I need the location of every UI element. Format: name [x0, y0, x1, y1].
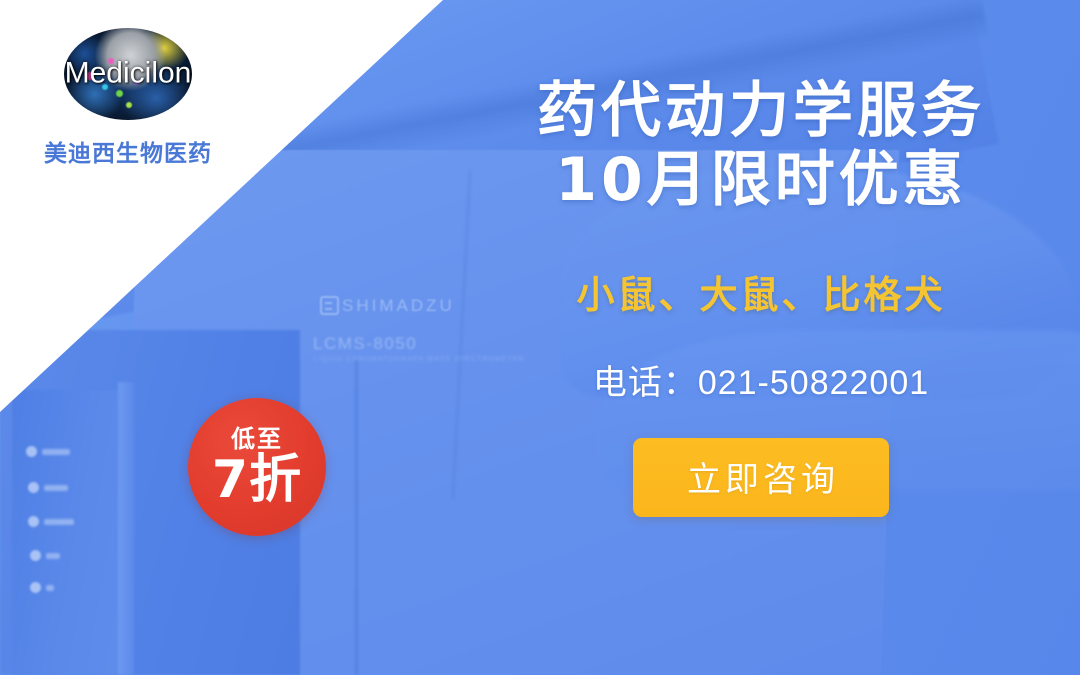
instrument-column-edge — [118, 382, 134, 675]
consult-now-button[interactable]: 立即咨询 — [633, 438, 889, 517]
phone-label: 电话： — [593, 363, 698, 403]
status-led-label-5 — [46, 585, 54, 591]
contact-phone-line: 电话：021-50822001 — [472, 355, 1050, 404]
marketing-copy: 药代动力学服务 10月限时优惠 小鼠、大鼠、比格犬 电话：021-5082200… — [472, 78, 1050, 517]
medicilon-logo-icon: Medicilon — [64, 28, 192, 120]
status-led-label-1 — [42, 449, 70, 455]
phone-number[interactable]: 021-50822001 — [698, 364, 929, 402]
logo-wordmark: Medicilon — [64, 56, 192, 90]
instrument-model-text: LCMS-8050 — [313, 334, 417, 354]
promotional-banner: SHIMADZU LCMS-8050 LIQUID CHROMATOGRAPH … — [0, 0, 1080, 675]
shimadzu-logo-icon — [320, 296, 339, 315]
instrument-panel-seam-left — [355, 360, 358, 675]
status-led-5 — [30, 582, 41, 593]
cta-container: 立即咨询 — [472, 438, 1050, 517]
discount-badge-value: 7折 — [212, 453, 302, 508]
brand-block: Medicilon 美迪西生物医药 — [40, 28, 216, 168]
status-led-4 — [30, 550, 41, 561]
status-led-3 — [28, 516, 39, 527]
molecule-dot-lime — [126, 102, 132, 108]
headline-line-2: 10月限时优惠 — [472, 147, 1050, 214]
status-led-label-4 — [46, 553, 60, 559]
instrument-control-column — [12, 390, 130, 675]
headline-line-1: 药代动力学服务 — [472, 78, 1050, 145]
status-led-1 — [26, 446, 37, 457]
discount-badge: 低至 7折 — [188, 398, 326, 536]
status-led-label-3 — [44, 519, 74, 525]
status-led-2 — [28, 482, 39, 493]
status-led-label-2 — [44, 485, 68, 491]
species-subheading: 小鼠、大鼠、比格犬 — [472, 264, 1050, 319]
molecule-dot-green — [116, 90, 123, 97]
company-name-cn: 美迪西生物医药 — [40, 134, 216, 168]
discount-badge-prefix: 低至 — [231, 427, 283, 451]
instrument-vendor-text: SHIMADZU — [342, 296, 455, 316]
